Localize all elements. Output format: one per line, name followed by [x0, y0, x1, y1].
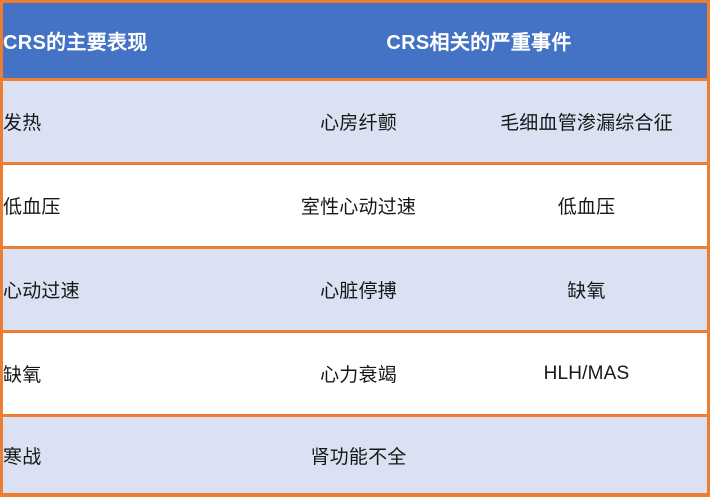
table-row: 寒战 肾功能不全: [3, 416, 707, 493]
cell-severe-event-b: 缺氧: [466, 247, 707, 331]
cell-manifestation: 心动过速: [3, 247, 251, 331]
table-header: CRS的主要表现 CRS相关的严重事件: [3, 3, 707, 79]
column-header-severe-events: CRS相关的严重事件: [251, 3, 707, 79]
table-row: 缺氧 心力衰竭 HLH/MAS: [3, 332, 707, 416]
cell-manifestation: 寒战: [3, 416, 251, 493]
crs-table-frame: CRS的主要表现 CRS相关的严重事件 发热 心房纤颤 毛细血管渗漏综合征 低血…: [0, 0, 710, 497]
cell-manifestation: 低血压: [3, 163, 251, 247]
cell-severe-event-a: 心房纤颤: [251, 79, 466, 163]
table-body: 发热 心房纤颤 毛细血管渗漏综合征 低血压 室性心动过速 低血压 心动过速 心脏…: [3, 79, 707, 493]
table-row: 心动过速 心脏停搏 缺氧: [3, 247, 707, 331]
cell-severe-event-b: [466, 416, 707, 493]
cell-severe-event-a: 心力衰竭: [251, 332, 466, 416]
cell-severe-event-a: 室性心动过速: [251, 163, 466, 247]
cell-severe-event-b: 毛细血管渗漏综合征: [466, 79, 707, 163]
crs-table: CRS的主要表现 CRS相关的严重事件 发热 心房纤颤 毛细血管渗漏综合征 低血…: [3, 3, 707, 493]
table-row: 低血压 室性心动过速 低血压: [3, 163, 707, 247]
column-header-manifestations: CRS的主要表现: [3, 3, 251, 79]
cell-severe-event-b: 低血压: [466, 163, 707, 247]
cell-manifestation: 发热: [3, 79, 251, 163]
table-row: 发热 心房纤颤 毛细血管渗漏综合征: [3, 79, 707, 163]
cell-severe-event-a: 肾功能不全: [251, 416, 466, 493]
cell-manifestation: 缺氧: [3, 332, 251, 416]
table-header-row: CRS的主要表现 CRS相关的严重事件: [3, 3, 707, 79]
cell-severe-event-a: 心脏停搏: [251, 247, 466, 331]
cell-severe-event-b: HLH/MAS: [466, 332, 707, 416]
